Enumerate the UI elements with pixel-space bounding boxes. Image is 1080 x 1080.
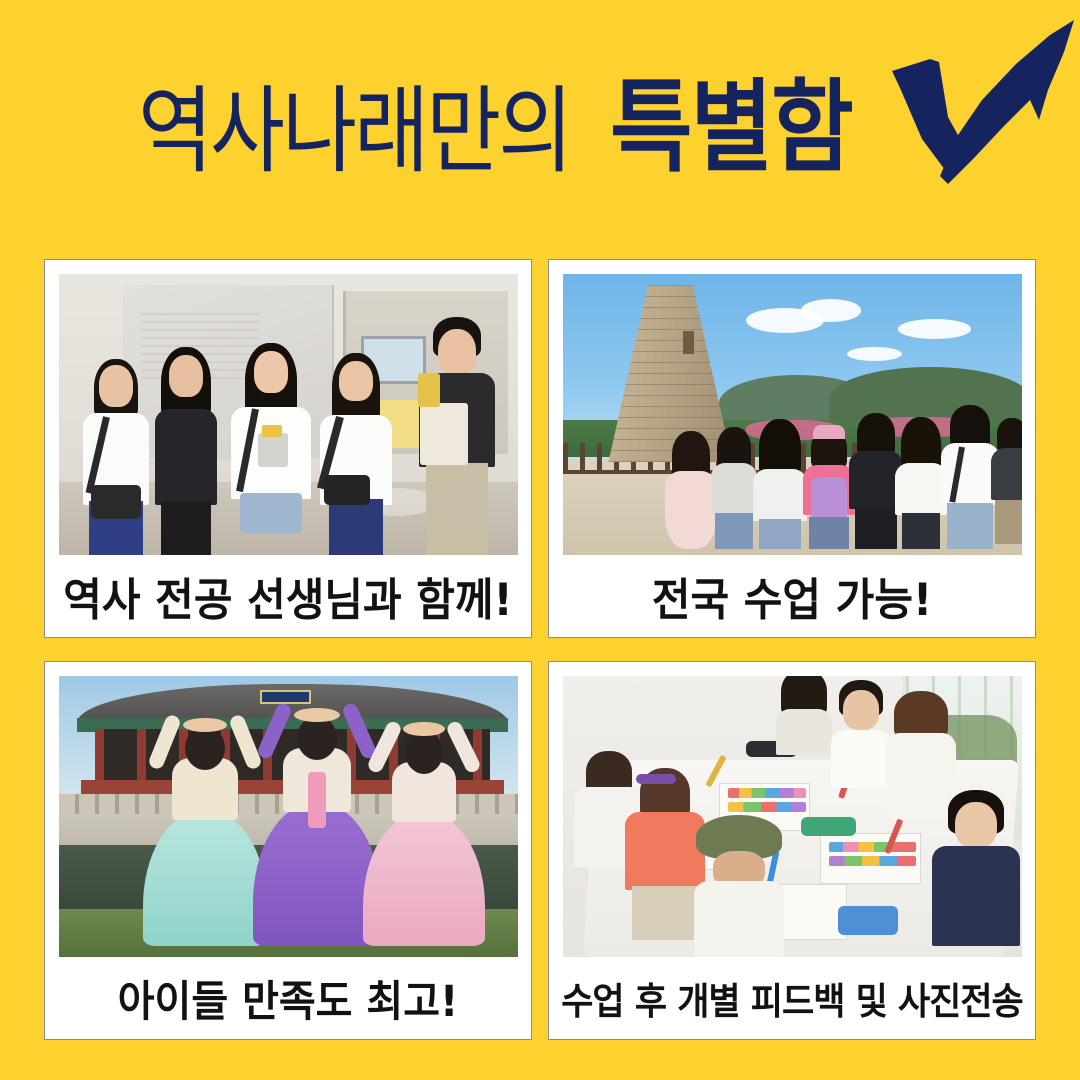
museum-guided-tour-photo (59, 274, 518, 555)
title-light-part: 역사나래만의 (138, 84, 570, 178)
feature-card[interactable]: 역사 전공 선생님과 함께! (44, 259, 532, 638)
feature-card[interactable]: 아이들 만족도 최고! (44, 661, 532, 1040)
feature-card[interactable]: 수업 후 개별 피드백 및 사진전송 (548, 661, 1036, 1040)
feature-card-grid: 역사 전공 선생님과 함께! (44, 259, 1036, 1040)
page-title: 역사나래만의 특별함 (138, 90, 847, 178)
craft-classroom-photo (563, 676, 1022, 957)
upward-swoosh-arrow-icon (878, 12, 1078, 197)
cheomseongdae-field-trip-photo (563, 274, 1022, 555)
card-caption: 아이들 만족도 최고! (45, 955, 531, 1040)
card-caption: 역사 전공 선생님과 함께! (45, 553, 531, 638)
card-caption: 전국 수업 가능! (549, 553, 1035, 638)
feature-card[interactable]: 전국 수업 가능! (548, 259, 1036, 638)
hanbok-palace-photo (59, 676, 518, 957)
header-banner: 역사나래만의 특별함 (0, 0, 1080, 250)
title-bold-part: 특별함 (610, 78, 852, 178)
card-caption: 수업 후 개별 피드백 및 사진전송 (549, 955, 1035, 1040)
